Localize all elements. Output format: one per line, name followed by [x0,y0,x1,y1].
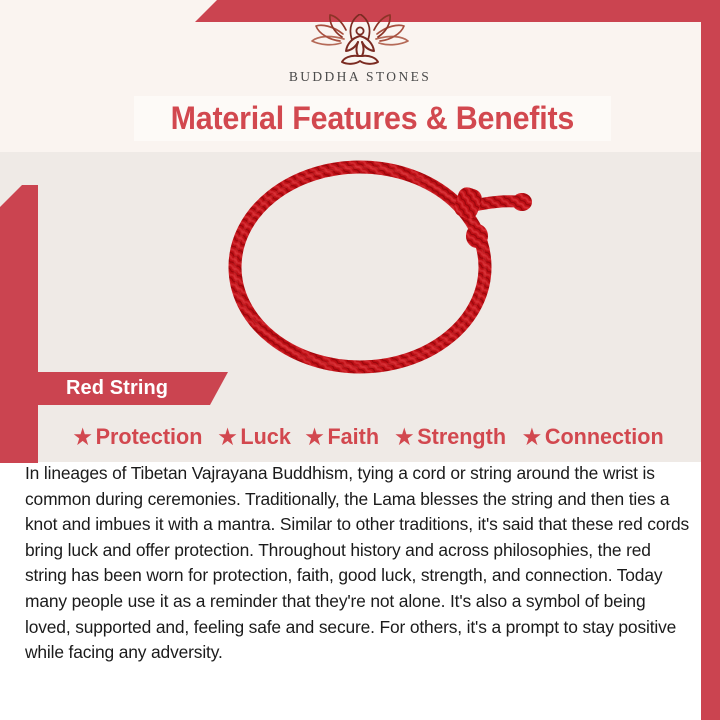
infographic-page: BUDDHA STONES Material Features & Benefi… [0,0,720,720]
lotus-meditation-icon [300,14,420,66]
benefit-item-protection: ★ Protection [74,424,203,450]
description-paragraph: In lineages of Tibetan Vajrayana Buddhis… [25,461,695,666]
red-string-bracelet-illustration [170,152,570,374]
product-image [170,152,570,374]
left-red-accent-stripe [0,185,38,463]
benefit-item-strength: ★ Strength [395,424,506,450]
benefit-label: Faith [328,424,380,450]
star-icon: ★ [395,427,413,448]
benefit-item-connection: ★ Connection [523,424,664,450]
benefit-item-luck: ★ Luck [219,424,291,450]
right-red-accent-stripe [701,0,720,720]
star-icon: ★ [219,427,237,448]
title-banner: Material Features & Benefits [134,96,611,141]
product-label: Red String [38,377,168,400]
star-icon: ★ [306,427,324,448]
benefit-label: Connection [545,424,664,450]
benefit-item-faith: ★ Faith [306,424,380,450]
benefits-list: ★ Protection ★ Luck ★ Faith ★ Strength ★… [38,418,700,456]
benefit-label: Strength [417,424,506,450]
brand-name: BUDDHA STONES [289,69,431,85]
product-label-banner: Red String [38,372,228,405]
page-title: Material Features & Benefits [171,100,575,137]
star-icon: ★ [74,427,92,448]
benefit-label: Protection [96,424,203,450]
star-icon: ★ [523,427,541,448]
benefit-label: Luck [241,424,291,450]
brand-logo: BUDDHA STONES [0,14,720,92]
